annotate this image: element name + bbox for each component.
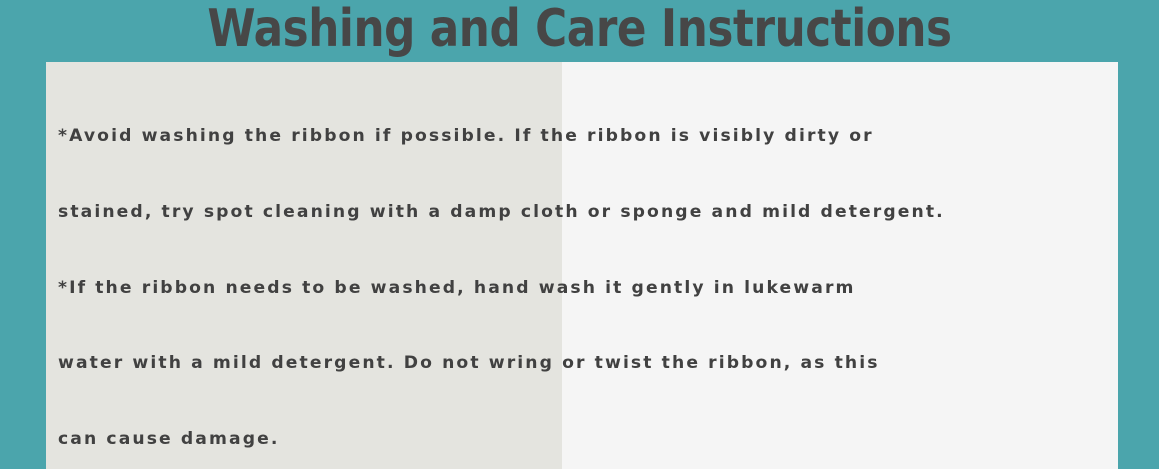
poster-canvas: Washing and Care Instructions *Avoid was… <box>0 0 1159 469</box>
instructions-line: can cause damage. <box>58 427 1118 452</box>
page-title: Washing and Care Instructions <box>93 0 1067 60</box>
instructions-line: stained, try spot cleaning with a damp c… <box>58 200 1118 225</box>
instructions-line: water with a mild detergent. Do not wrin… <box>58 351 1118 376</box>
instructions-line: *If the ribbon needs to be washed, hand … <box>58 276 1118 301</box>
instructions-text: *Avoid washing the ribbon if possible. I… <box>58 74 1118 469</box>
instructions-line: *Avoid washing the ribbon if possible. I… <box>58 124 1118 149</box>
instructions-panel: *Avoid washing the ribbon if possible. I… <box>46 62 1118 469</box>
